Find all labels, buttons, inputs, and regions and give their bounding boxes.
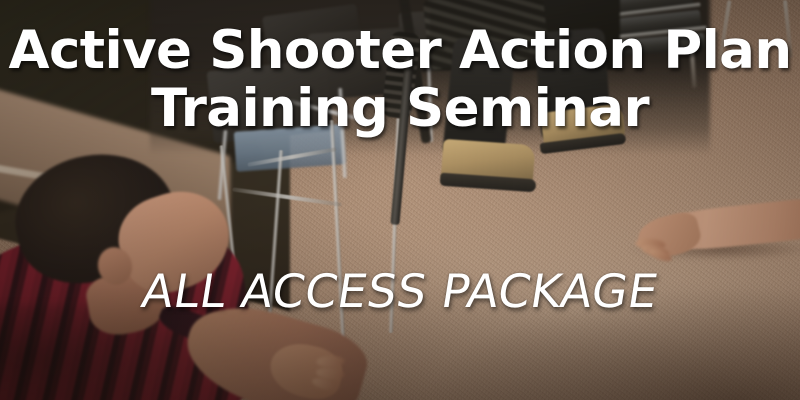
title-line-2: Training Seminar xyxy=(0,80,800,138)
title-line-1: Active Shooter Action Plan xyxy=(0,22,800,80)
page-title: Active Shooter Action Plan Training Semi… xyxy=(0,22,800,138)
text-overlay: Active Shooter Action Plan Training Semi… xyxy=(0,0,800,400)
video-thumbnail-frame: Active Shooter Action Plan Training Semi… xyxy=(0,0,800,400)
subtitle: ALL ACCESS PACKAGE xyxy=(0,266,800,316)
